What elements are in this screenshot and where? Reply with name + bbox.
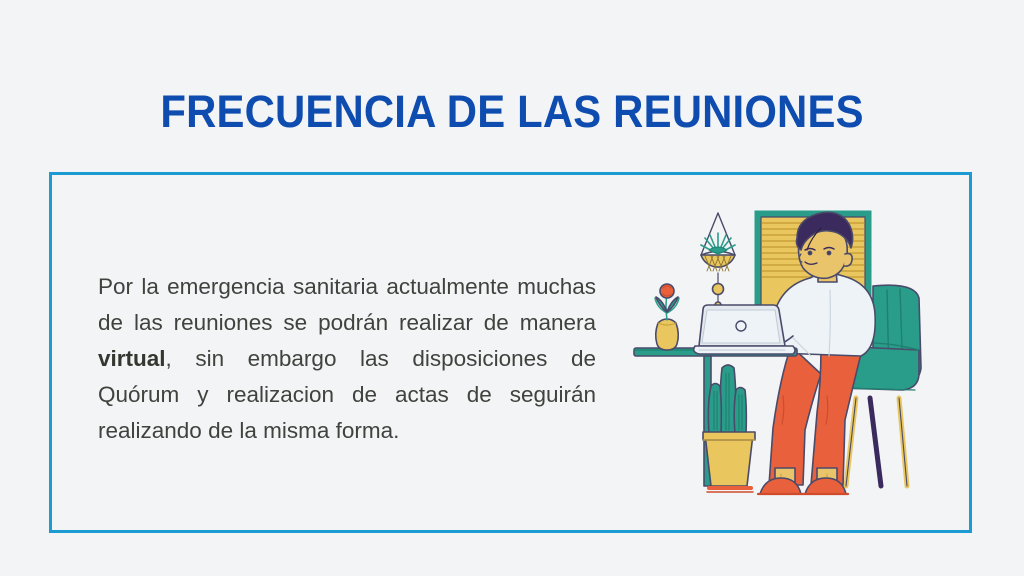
- slide-canvas: FRECUENCIA DE LAS REUNIONES Por la emerg…: [0, 0, 1024, 576]
- illustration-man-working-on-laptop: [625, 198, 940, 503]
- hanging-planter-icon: [701, 213, 735, 308]
- body-paragraph: Por la emergencia sanitaria actualmente …: [98, 269, 596, 449]
- laptop-icon: [694, 305, 795, 354]
- body-text-part-2: , sin embargo las disposiciones de Quóru…: [98, 346, 596, 443]
- body-text-emphasis: virtual: [98, 346, 166, 371]
- page-title: FRECUENCIA DE LAS REUNIONES: [36, 88, 988, 135]
- body-text-part-1: Por la emergencia sanitaria actualmente …: [98, 274, 596, 335]
- flower-vase-icon: [655, 284, 679, 350]
